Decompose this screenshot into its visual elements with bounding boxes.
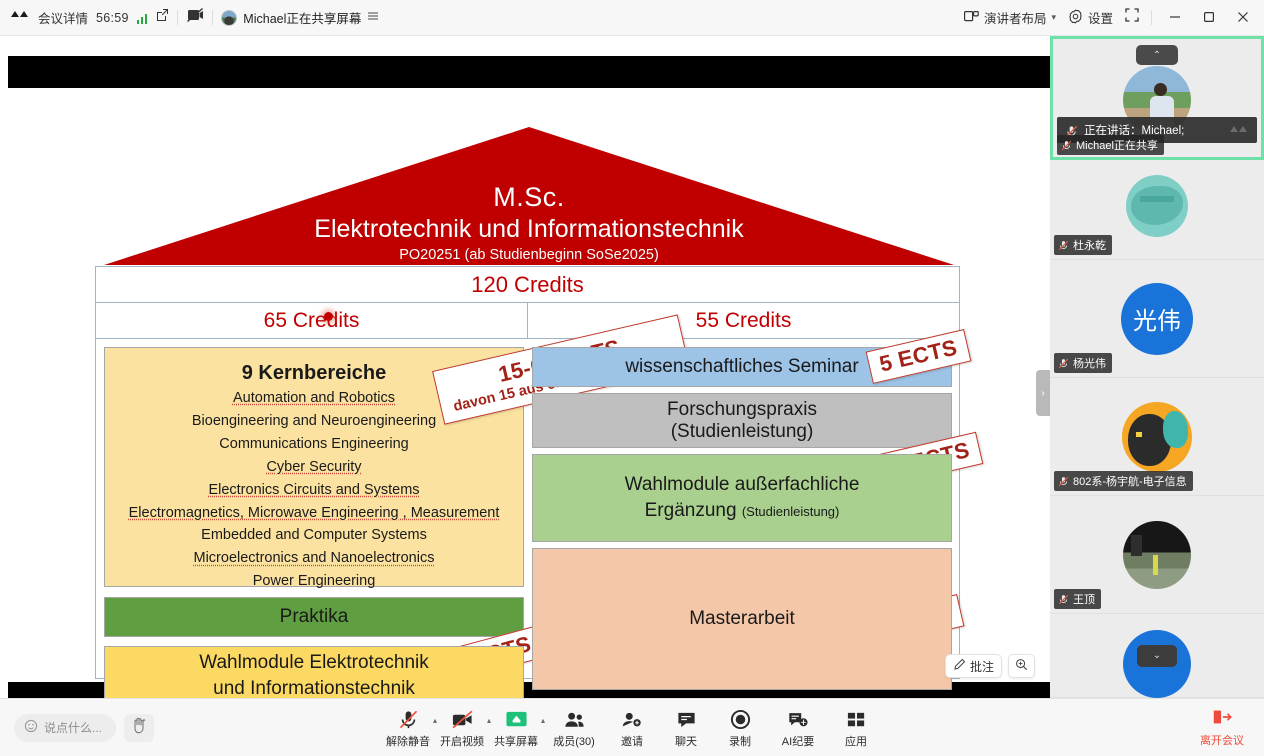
forschungspraxis-sub: (Studienleistung) [671, 421, 814, 443]
share-screen-icon [505, 709, 528, 731]
participant-tile[interactable]: 802系-杨宇航-电子信息 [1050, 378, 1264, 496]
more-options-icon[interactable] [367, 10, 379, 25]
zoom-meeting-window: 会议详情 56:59 Michael正在共享屏幕 [0, 0, 1264, 756]
chat-icon [676, 709, 697, 731]
smiley-icon [24, 719, 38, 736]
camera-off-icon [451, 709, 474, 731]
leave-meeting-icon [1211, 707, 1233, 730]
minimize-icon[interactable] [1164, 10, 1186, 26]
masterarbeit-block: Masterarbeit 30 ECTS [532, 548, 952, 690]
participant-tile[interactable]: 王顶 [1050, 496, 1264, 614]
wahlmodule-eti-block: Wahlmodule Elektrotechnik und Informatio… [104, 646, 524, 698]
participant-name-badge: 杜永乾 [1054, 235, 1112, 255]
kernbereiche-block: 9 Kernbereiche Automation and Robotics B… [104, 347, 524, 587]
wahlmodule-ausser-sub: (Studienleistung) [742, 504, 840, 519]
zoom-logo-icon [1229, 123, 1249, 138]
list-item: Microelectronics and Nanoelectronics [105, 547, 523, 570]
zoom-logo-icon [10, 8, 30, 27]
divider [177, 10, 178, 25]
scroll-down-button[interactable]: ⌄ [1137, 645, 1177, 667]
mic-muted-icon [398, 709, 419, 731]
letterbox-bar-top [8, 56, 1050, 88]
raise-hand-icon [131, 717, 147, 739]
participant-tile-active[interactable]: ⌃ 正在讲话：Michael; [1050, 36, 1264, 160]
credits-split-row: 65 Credits 55 Credits [95, 303, 960, 339]
avatar [221, 10, 237, 26]
close-icon[interactable] [1232, 10, 1254, 26]
toolbar-actions: 解除静音 ▴ 开启视频 ▴ 共享屏幕 ▴ [381, 707, 883, 749]
maximize-icon[interactable] [1198, 10, 1220, 26]
left-credits-label: 65 Credits [264, 309, 360, 333]
mic-muted-icon [1065, 125, 1076, 136]
reaction-placeholder: 说点什么... [44, 719, 102, 736]
wahlmodule-ausser-line1: Wahlmodule außerfachliche [625, 472, 860, 498]
record-icon [730, 709, 751, 731]
magnifier-plus-icon [1015, 658, 1028, 674]
list-item: Power Engineering [105, 570, 523, 593]
participant-tile[interactable]: 光伟 杨光伟 [1050, 260, 1264, 378]
chevron-up-icon: ⌃ [1153, 50, 1161, 61]
layout-icon [964, 10, 979, 26]
reaction-input[interactable]: 说点什么... [14, 714, 116, 742]
roof-program: Elektrotechnik und Informationstechnik [314, 214, 743, 244]
wahlmodule-ausser-block: Wahlmodule außerfachliche Ergänzung (Stu… [532, 454, 952, 542]
chat-button[interactable]: 聊天 [659, 707, 713, 749]
right-credits-cell: 55 Credits [527, 303, 959, 338]
annotation-toolbar: 批注 [945, 654, 1035, 678]
seminar-block: wissenschaftliches Seminar 5 ECTS [532, 347, 952, 387]
list-item: Embedded and Computer Systems [105, 524, 523, 547]
avatar: 光伟 [1121, 283, 1193, 355]
chevron-right-icon: › [1041, 388, 1044, 399]
apps-grid-icon [846, 709, 867, 731]
participant-name-badge: 802系-杨宇航-电子信息 [1054, 471, 1193, 491]
list-item: Electronics Circuits and Systems [105, 479, 523, 502]
start-video-button[interactable]: 开启视频 ▴ [435, 707, 489, 749]
list-item: Communications Engineering [105, 433, 523, 456]
leave-meeting-button[interactable]: 离开会议 [1200, 707, 1244, 748]
wahlmodule-eti-line1: Wahlmodule Elektrotechnik [199, 650, 429, 676]
slide-roof: M.Sc. Elektrotechnik und Informationstec… [104, 127, 954, 267]
seminar-label: wissenschaftliches Seminar [625, 356, 858, 378]
invite-button[interactable]: 邀请 [605, 707, 659, 749]
meeting-toolbar: 说点什么... 解除静音 ▴ 开启视频 ▴ [0, 698, 1264, 756]
strip-collapse-button[interactable]: ⌃ [1136, 45, 1178, 65]
list-item: Cyber Security [105, 456, 523, 479]
chevron-down-icon: ▾ [1051, 12, 1056, 23]
presentation-slide: M.Sc. Elektrotechnik und Informationstec… [0, 88, 1050, 682]
divider [212, 10, 213, 25]
participant-name-badge: 杨光伟 [1054, 353, 1112, 373]
participant-strip-collapse-handle[interactable]: › [1036, 370, 1050, 416]
participant-name-badge: 王顶 [1054, 589, 1101, 609]
ai-summary-button[interactable]: AI纪要 [767, 707, 829, 749]
slide-body: 9 Kernbereiche Automation and Robotics B… [95, 339, 960, 679]
ai-summary-icon [787, 709, 809, 731]
share-screen-button[interactable]: 共享屏幕 ▴ [489, 707, 543, 749]
mic-muted-icon [1058, 240, 1069, 251]
annotate-button[interactable]: 批注 [945, 654, 1002, 678]
mic-muted-icon [1058, 476, 1069, 487]
signal-strength-icon[interactable] [137, 12, 148, 24]
popout-window-icon[interactable] [155, 8, 169, 27]
participant-name-badge: Michael正在共享 [1057, 135, 1164, 155]
avatar [1122, 402, 1192, 472]
participants-icon [563, 709, 586, 731]
participant-tile-partial[interactable]: ⌄ [1050, 614, 1264, 698]
left-credits-cell: 65 Credits [96, 303, 527, 338]
participant-tile[interactable]: 杜永乾 [1050, 160, 1264, 260]
mic-muted-icon [1061, 140, 1072, 151]
shared-screen-stage[interactable]: M.Sc. Elektrotechnik und Informationstec… [0, 36, 1050, 698]
invite-person-icon [621, 709, 643, 731]
divider [1151, 10, 1152, 25]
participants-button[interactable]: 成员(30) [543, 707, 605, 749]
right-column: wissenschaftliches Seminar 5 ECTS Forsch… [532, 347, 952, 690]
praktika-block: Praktika 5-15 ECTS [104, 597, 524, 637]
meeting-info-button[interactable]: 会议详情 [38, 8, 88, 27]
title-bar: 会议详情 56:59 Michael正在共享屏幕 [0, 0, 1264, 36]
mic-muted-icon [1058, 594, 1069, 605]
settings-button[interactable]: 设置 [1068, 8, 1113, 27]
mic-muted-icon [1058, 358, 1069, 369]
zoom-annotation-button[interactable] [1008, 654, 1035, 678]
forschungspraxis-label: Forschungspraxis [667, 399, 817, 421]
participant-video-strip[interactable]: ⌃ 正在讲话：Michael; [1050, 36, 1264, 698]
layout-button[interactable]: 演讲者布局 ▾ [964, 8, 1056, 27]
roof-degree: M.Sc. [493, 183, 565, 213]
recording-disabled-icon[interactable] [186, 7, 204, 28]
right-credits-label: 55 Credits [696, 309, 792, 333]
avatar [1126, 175, 1188, 237]
left-column: 9 Kernbereiche Automation and Robotics B… [104, 347, 524, 698]
total-credits-label: 120 Credits [471, 272, 584, 298]
record-button[interactable]: 录制 [713, 707, 767, 749]
masterarbeit-label: Masterarbeit [689, 608, 795, 630]
unmute-button[interactable]: 解除静音 ▴ [381, 707, 435, 749]
praktika-label: Praktika [280, 606, 349, 628]
fullscreen-icon[interactable] [1125, 8, 1139, 27]
apps-button[interactable]: 应用 [829, 707, 883, 749]
pencil-icon [953, 658, 966, 674]
wahlmodule-eti-line2: und Informationstechnik [213, 676, 415, 698]
avatar [1123, 521, 1191, 589]
total-credits-row: 120 Credits [95, 266, 960, 303]
chevron-down-icon: ⌄ [1153, 650, 1161, 661]
list-item: Electromagnetics, Microwave Engineering … [105, 502, 523, 525]
forschungspraxis-block: Forschungspraxis (Studienleistung) 12 EC… [532, 393, 952, 448]
wahlmodule-ausser-line2: Ergänzung (Studienleistung) [645, 498, 840, 524]
raise-hand-button[interactable] [124, 714, 154, 742]
presenter-cursor-dot [324, 312, 333, 321]
avatar-initials: 光伟 [1121, 283, 1193, 355]
gear-icon [1068, 9, 1083, 27]
sharing-status[interactable]: Michael正在共享屏幕 [221, 8, 379, 27]
meeting-timer: 56:59 [96, 11, 129, 25]
roof-regulation: PO20251 (ab Studienbeginn SoSe2025) [399, 247, 659, 263]
